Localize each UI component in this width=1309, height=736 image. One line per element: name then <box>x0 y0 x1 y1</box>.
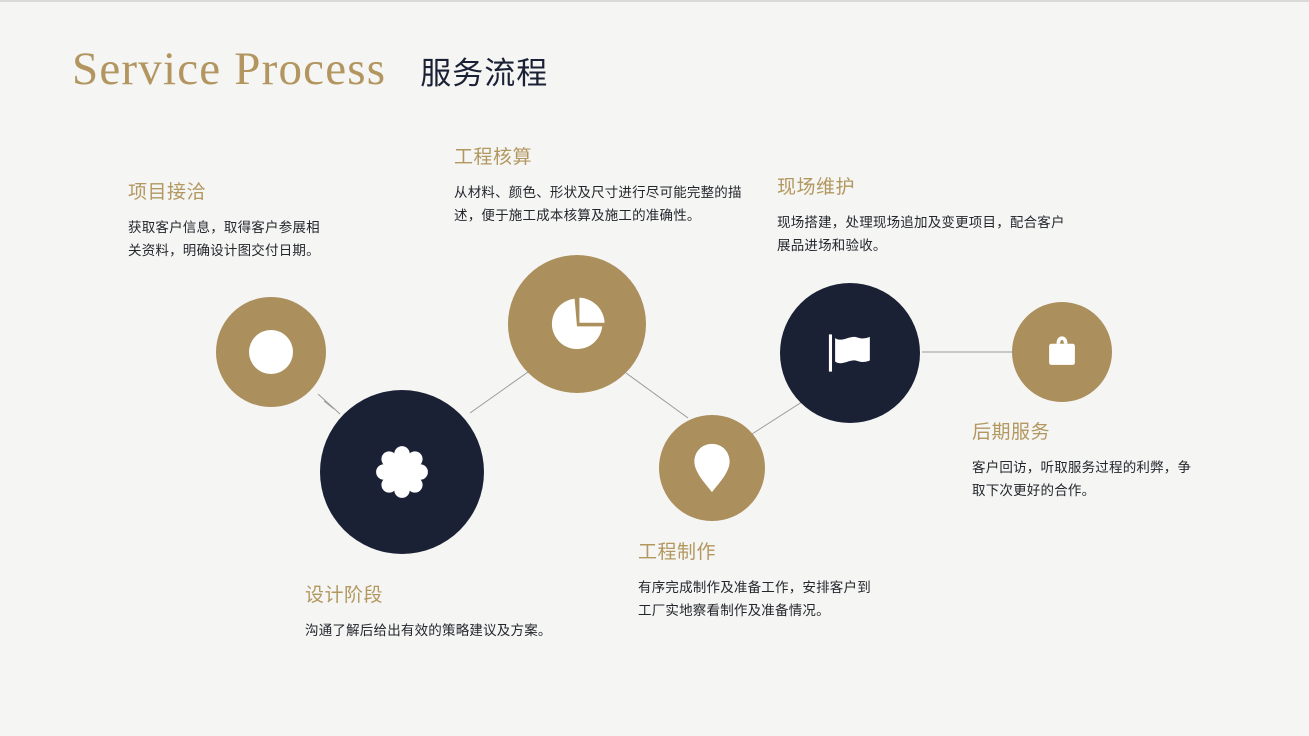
step-text-2: 设计阶段 沟通了解后给出有效的策略建议及方案。 <box>305 580 595 642</box>
step-body-3: 从材料、颜色、形状及尺寸进行尽可能完整的描述，便于施工成本核算及施工的准确性。 <box>454 181 742 227</box>
step-node-2[interactable] <box>320 390 484 554</box>
step-node-5[interactable] <box>780 283 920 423</box>
step-heading-6: 后期服务 <box>972 417 1198 444</box>
step-heading-1: 项目接洽 <box>128 177 328 204</box>
slide-canvas: Service Process 服务流程 <box>0 0 1309 734</box>
circle-dot-icon <box>243 324 299 380</box>
step-body-5: 现场搭建，处理现场追加及变更项目，配合客户展品进场和验收。 <box>777 211 1073 257</box>
flag-icon <box>819 322 881 384</box>
step-node-3[interactable] <box>508 255 646 393</box>
title-english: Service Process <box>72 46 386 93</box>
step-body-1: 获取客户信息，取得客户参展相关资料，明确设计图交付日期。 <box>128 216 328 262</box>
flower-rosette-icon <box>367 437 437 507</box>
connector-3-4 <box>626 373 688 418</box>
connector-4-5 <box>752 400 805 434</box>
step-text-1: 项目接洽 获取客户信息，取得客户参展相关资料，明确设计图交付日期。 <box>128 177 328 262</box>
title-chinese: 服务流程 <box>420 58 548 89</box>
connector-2-3 <box>470 372 528 413</box>
step-text-5: 现场维护 现场搭建，处理现场追加及变更项目，配合客户展品进场和验收。 <box>777 172 1073 257</box>
step-body-2: 沟通了解后给出有效的策略建议及方案。 <box>305 619 595 642</box>
step-node-6[interactable] <box>1012 302 1112 402</box>
step-heading-5: 现场维护 <box>777 172 1073 199</box>
step-text-6: 后期服务 客户回访，听取服务过程的利弊，争取下次更好的合作。 <box>972 417 1198 502</box>
map-pin-icon <box>690 442 734 494</box>
step-node-1[interactable] <box>216 297 326 407</box>
page-title: Service Process 服务流程 <box>72 46 548 93</box>
step-node-4[interactable] <box>659 415 765 521</box>
connector-1-2-main <box>318 394 340 414</box>
step-body-6: 客户回访，听取服务过程的利弊，争取下次更好的合作。 <box>972 456 1198 502</box>
step-heading-2: 设计阶段 <box>305 580 595 607</box>
step-heading-4: 工程制作 <box>638 537 876 564</box>
step-text-4: 工程制作 有序完成制作及准备工作，安排客户到工厂实地察看制作及准备情况。 <box>638 537 876 622</box>
pie-chart-icon <box>547 294 607 354</box>
step-text-3: 工程核算 从材料、颜色、形状及尺寸进行尽可能完整的描述，便于施工成本核算及施工的… <box>454 142 742 227</box>
step-heading-3: 工程核算 <box>454 142 742 169</box>
step-body-4: 有序完成制作及准备工作，安排客户到工厂实地察看制作及准备情况。 <box>638 576 876 622</box>
connector-1-2 <box>324 401 334 409</box>
briefcase-icon <box>1039 329 1085 375</box>
connector-lines <box>0 2 1309 736</box>
